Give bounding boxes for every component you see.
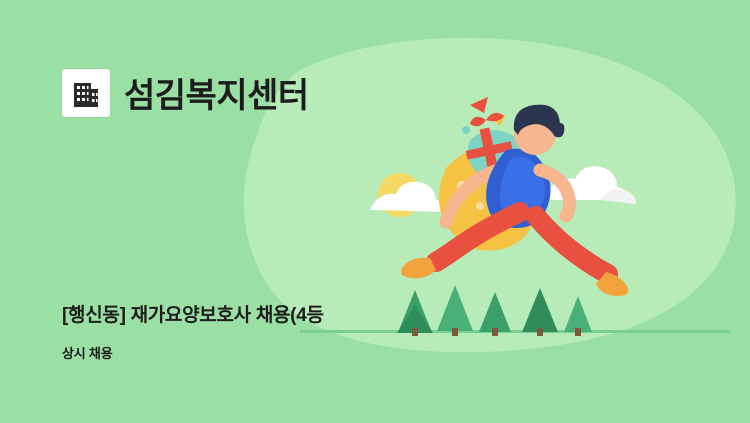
job-posting-card: 섬김복지센터 [행신동] 재가요양보호사 채용(4등 상시 채용 — [0, 0, 750, 423]
card-header: 섬김복지센터 — [62, 68, 309, 117]
card-caption: [행신동] 재가요양보호사 채용(4등 상시 채용 — [62, 300, 324, 362]
job-title: [행신동] 재가요양보호사 채용(4등 — [62, 300, 324, 327]
building-icon — [62, 69, 110, 117]
job-status: 상시 채용 — [62, 343, 324, 362]
organization-name: 섬김복지센터 — [124, 68, 309, 117]
ground-line — [300, 330, 730, 333]
